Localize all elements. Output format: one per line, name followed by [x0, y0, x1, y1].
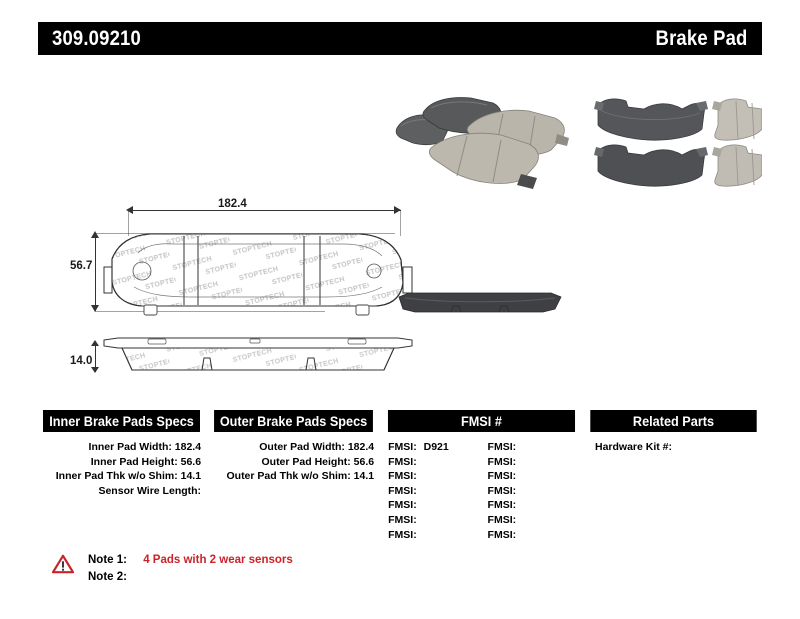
table-row: FMSI:	[388, 513, 481, 528]
outer-specs-body: Outer Pad Width: 182.4 Outer Pad Height:…	[209, 432, 378, 484]
table-row: FMSI:	[488, 469, 581, 484]
fmsi-label: FMSI:	[488, 485, 517, 497]
product-photo-flat-set	[590, 95, 762, 190]
note-1: Note 1: 4 Pads with 2 wear sensors	[88, 552, 293, 569]
fmsi-label: FMSI:	[488, 441, 517, 453]
specifications-table: Inner Brake Pads Specs Inner Pad Width: …	[38, 410, 762, 545]
table-row: Inner Pad Height: 56.6	[38, 455, 205, 470]
dimension-label-height: 56.7	[70, 260, 92, 272]
spec-value: 56.6	[354, 456, 374, 468]
spec-label: Outer Pad Height:	[261, 456, 350, 468]
brake-pad-face-drawing: STOPTECH STOPTECH	[98, 225, 418, 325]
note-1-label: Note 1:	[88, 552, 136, 569]
table-row: FMSI:	[388, 528, 481, 543]
fmsi-label: FMSI:	[388, 470, 417, 482]
product-photo-angled-set	[395, 90, 580, 195]
fmsi-label: FMSI:	[388, 456, 417, 468]
table-row: FMSI:	[388, 484, 481, 499]
related-parts-column: Related Parts Hardware Kit #:	[585, 410, 762, 545]
fmsi-right-subcolumn: FMSI: FMSI: FMSI: FMSI: FMSI:	[482, 440, 581, 542]
table-row: Outer Pad Height: 56.6	[209, 455, 378, 470]
fmsi-value: D921	[420, 441, 449, 453]
table-row: FMSI:	[488, 440, 581, 455]
fmsi-header: FMSI #	[388, 410, 575, 432]
spec-value: 182.4	[348, 441, 374, 453]
spec-label: Sensor Wire Length:	[98, 485, 201, 497]
fmsi-value	[417, 499, 421, 511]
note-2: Note 2:	[88, 569, 293, 586]
note-1-text: 4 Pads with 2 wear sensors	[139, 554, 293, 566]
inner-specs-header: Inner Brake Pads Specs	[43, 410, 200, 432]
table-row: Inner Pad Width: 182.4	[38, 440, 205, 455]
table-row: Outer Pad Thk w/o Shim: 14.1	[209, 469, 378, 484]
spec-value: 56.6	[181, 456, 201, 468]
fmsi-value	[417, 514, 421, 526]
table-row: FMSI:	[488, 455, 581, 470]
spec-value: 14.1	[354, 470, 374, 482]
fmsi-value	[417, 470, 421, 482]
fmsi-value	[417, 456, 421, 468]
fmsi-value	[516, 499, 520, 511]
table-row: Outer Pad Width: 182.4	[209, 440, 378, 455]
fmsi-value	[516, 470, 520, 482]
fmsi-body: FMSI: D921 FMSI: FMSI: FMSI: FMSI:	[382, 432, 581, 542]
part-number: 309.09210	[52, 27, 141, 51]
title-bar: 309.09210 Brake Pad	[38, 22, 762, 55]
table-row: Inner Pad Thk w/o Shim: 14.1	[38, 469, 205, 484]
table-row: FMSI:	[388, 455, 481, 470]
fmsi-label: FMSI:	[488, 514, 517, 526]
spec-label: Inner Pad Thk w/o Shim:	[56, 470, 178, 482]
spec-label: Inner Pad Height:	[91, 456, 178, 468]
outer-specs-header: Outer Brake Pads Specs	[214, 410, 373, 432]
table-row: Hardware Kit #:	[595, 440, 762, 455]
fmsi-value	[516, 456, 520, 468]
fmsi-value	[516, 485, 520, 497]
table-row: Sensor Wire Length:	[38, 484, 205, 499]
fmsi-label: FMSI:	[388, 441, 417, 453]
fmsi-label: FMSI:	[488, 499, 517, 511]
brake-pad-edge-drawing	[98, 332, 418, 388]
fmsi-value	[516, 514, 520, 526]
fmsi-label: FMSI:	[388, 514, 417, 526]
fmsi-value	[516, 441, 520, 453]
hardware-kit-label: Hardware Kit #:	[595, 441, 672, 453]
fmsi-label: FMSI:	[488, 529, 517, 541]
dimension-line-width	[128, 210, 401, 211]
note-lines: Note 1: 4 Pads with 2 wear sensors Note …	[88, 552, 293, 586]
dimension-label-width: 182.4	[218, 198, 247, 210]
note-2-label: Note 2:	[88, 569, 136, 586]
fmsi-label: FMSI:	[488, 470, 517, 482]
outer-specs-column: Outer Brake Pads Specs Outer Pad Width: …	[209, 410, 378, 545]
fmsi-value	[516, 529, 520, 541]
related-parts-body: Hardware Kit #:	[585, 432, 762, 455]
fmsi-label: FMSI:	[488, 456, 517, 468]
spec-value: 14.1	[181, 470, 201, 482]
table-row: FMSI:	[388, 498, 481, 513]
fmsi-label: FMSI:	[388, 529, 417, 541]
inner-specs-body: Inner Pad Width: 182.4 Inner Pad Height:…	[38, 432, 205, 498]
fmsi-value	[417, 485, 421, 497]
table-row: FMSI:	[488, 484, 581, 499]
spec-label: Outer Pad Width:	[259, 441, 345, 453]
table-row: FMSI:	[488, 528, 581, 543]
fmsi-column: FMSI # FMSI: D921 FMSI: FMSI: FMSI:	[382, 410, 581, 545]
table-row: FMSI:	[488, 513, 581, 528]
fmsi-left-subcolumn: FMSI: D921 FMSI: FMSI: FMSI: FMSI:	[382, 440, 481, 542]
product-photo-edge-view	[395, 285, 565, 320]
spec-value: 182.4	[175, 441, 201, 453]
spec-label: Inner Pad Width:	[89, 441, 172, 453]
dimension-label-thickness: 14.0	[70, 355, 92, 367]
fmsi-label: FMSI:	[388, 499, 417, 511]
product-type: Brake Pad	[656, 27, 748, 51]
notes-section: Note 1: 4 Pads with 2 wear sensors Note …	[52, 552, 293, 586]
table-row: FMSI: D921	[388, 440, 481, 455]
table-row: FMSI:	[388, 469, 481, 484]
spec-label: Outer Pad Thk w/o Shim:	[226, 470, 350, 482]
dimension-line-height	[95, 233, 96, 311]
warning-triangle-icon	[52, 554, 74, 574]
related-parts-header: Related Parts	[590, 410, 756, 432]
table-row: FMSI:	[488, 498, 581, 513]
fmsi-value	[417, 529, 421, 541]
fmsi-label: FMSI:	[388, 485, 417, 497]
inner-specs-column: Inner Brake Pads Specs Inner Pad Width: …	[38, 410, 205, 545]
